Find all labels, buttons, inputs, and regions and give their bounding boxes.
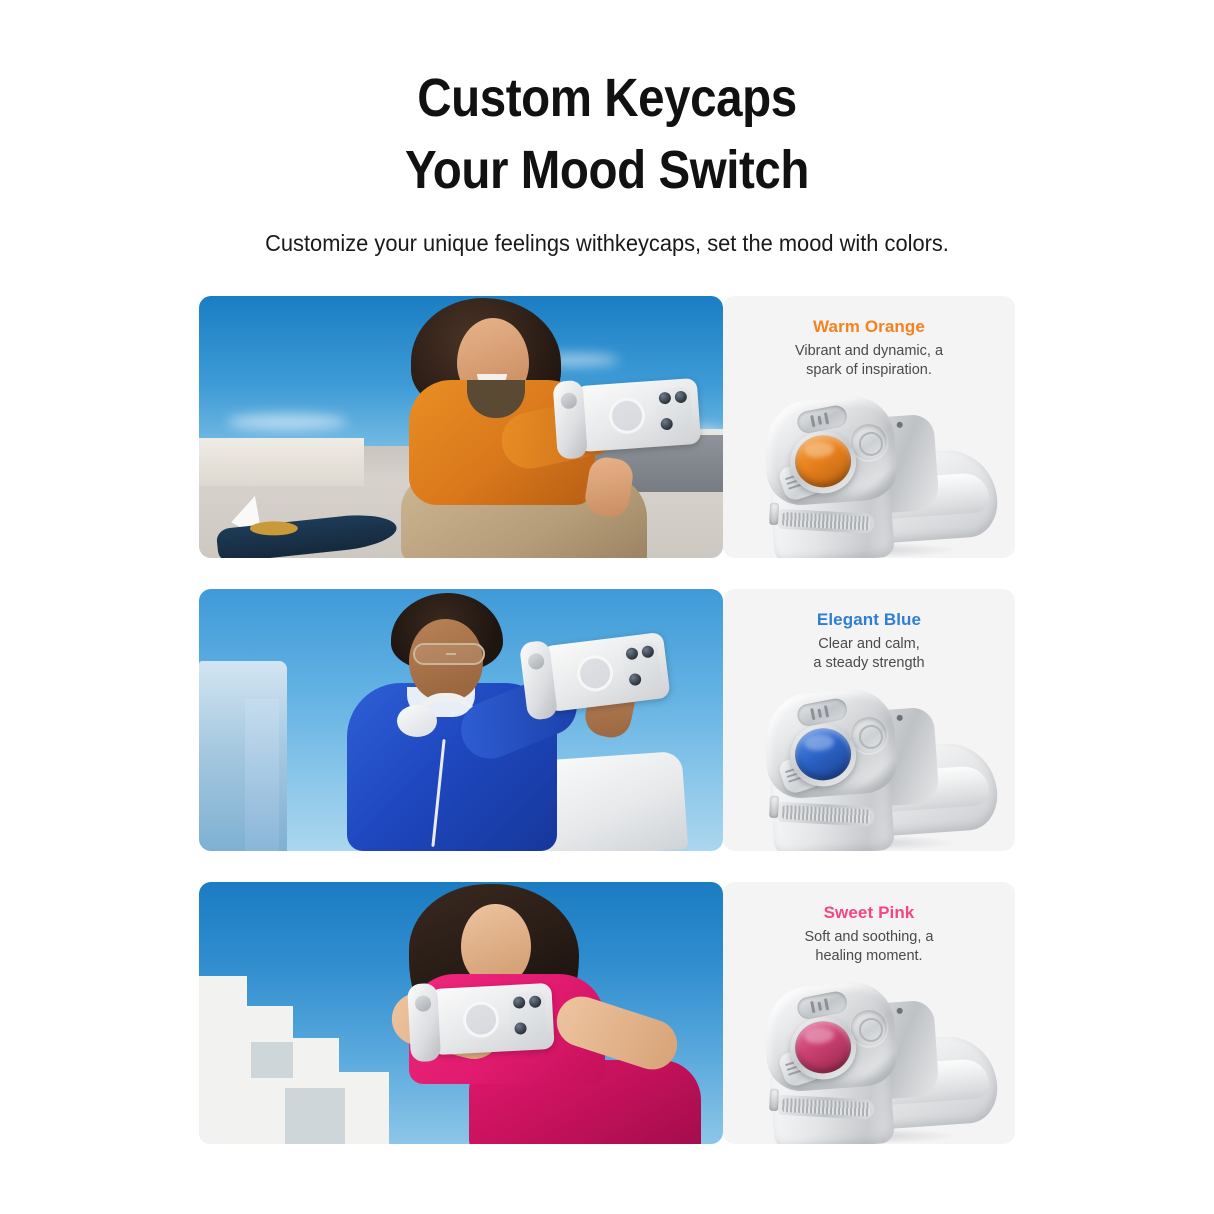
color-description-line-2: spark of inspiration. [723, 361, 1015, 380]
color-info-text: Elegant Blue Clear and calm, a steady st… [723, 589, 1015, 673]
product-feature-page: Custom Keycaps Your Mood Switch Customiz… [0, 0, 1214, 1214]
color-variant-list: Warm Orange Vibrant and dynamic, a spark… [199, 296, 1015, 1144]
phone-with-grip [429, 983, 554, 1055]
color-info-card-elegant-blue: Elegant Blue Clear and calm, a steady st… [723, 589, 1015, 851]
product-render-sweet-pink [723, 968, 1015, 1144]
magsafe-ring [608, 397, 646, 435]
rooftop-wall [199, 438, 364, 486]
color-description-line-1: Soft and soothing, a [723, 928, 1015, 947]
background-building-secondary [245, 699, 279, 851]
keycap-button[interactable] [793, 1019, 852, 1075]
color-name-label: Warm Orange [723, 316, 1015, 338]
person-figure [349, 882, 679, 1144]
headphone-earcup [397, 705, 437, 737]
camera-module [621, 641, 662, 691]
cloud-icon [227, 414, 347, 430]
product-render-warm-orange [723, 382, 1015, 558]
person-figure [349, 296, 639, 558]
grip-handle [407, 983, 441, 1062]
gamepad-grip-body [747, 966, 994, 1144]
eyeglasses [413, 643, 485, 665]
color-description-line-1: Clear and calm, [723, 635, 1015, 654]
product-render-elegant-blue [723, 675, 1015, 851]
grip-handle [552, 380, 587, 460]
magsafe-ring [575, 653, 615, 693]
camera-module [654, 386, 693, 434]
person-figure [309, 589, 639, 851]
color-info-card-warm-orange: Warm Orange Vibrant and dynamic, a spark… [723, 296, 1015, 558]
color-info-text: Warm Orange Vibrant and dynamic, a spark… [723, 296, 1015, 380]
gamepad-grip-body [747, 673, 994, 851]
color-variant-row: Sweet Pink Soft and soothing, a healing … [199, 882, 1015, 1144]
phone-with-grip [575, 378, 701, 452]
color-variant-row: Elegant Blue Clear and calm, a steady st… [199, 589, 1015, 851]
page-header: Custom Keycaps Your Mood Switch Customiz… [0, 62, 1214, 258]
gamepad-grip-body [747, 380, 994, 558]
page-subtitle: Customize your unique feelings withkeyca… [30, 228, 1183, 258]
color-description-line-2: a steady strength [723, 654, 1015, 673]
color-info-text: Sweet Pink Soft and soothing, a healing … [723, 882, 1015, 966]
headline-line-2: Your Mood Switch [73, 134, 1141, 206]
lifestyle-photo-warm-orange [199, 296, 723, 558]
lifestyle-photo-sweet-pink [199, 882, 723, 1144]
keycap-button[interactable] [793, 433, 852, 489]
headline-line-1: Custom Keycaps [73, 62, 1141, 134]
lifestyle-photo-elegant-blue [199, 589, 723, 851]
color-description-line-1: Vibrant and dynamic, a [723, 342, 1015, 361]
keycap-button[interactable] [793, 726, 852, 782]
camera-module [509, 991, 547, 1039]
color-info-card-sweet-pink: Sweet Pink Soft and soothing, a healing … [723, 882, 1015, 1144]
color-description-line-2: healing moment. [723, 947, 1015, 966]
color-variant-row: Warm Orange Vibrant and dynamic, a spark… [199, 296, 1015, 558]
color-name-label: Elegant Blue [723, 609, 1015, 631]
color-name-label: Sweet Pink [723, 902, 1015, 924]
magsafe-ring [462, 1001, 500, 1039]
